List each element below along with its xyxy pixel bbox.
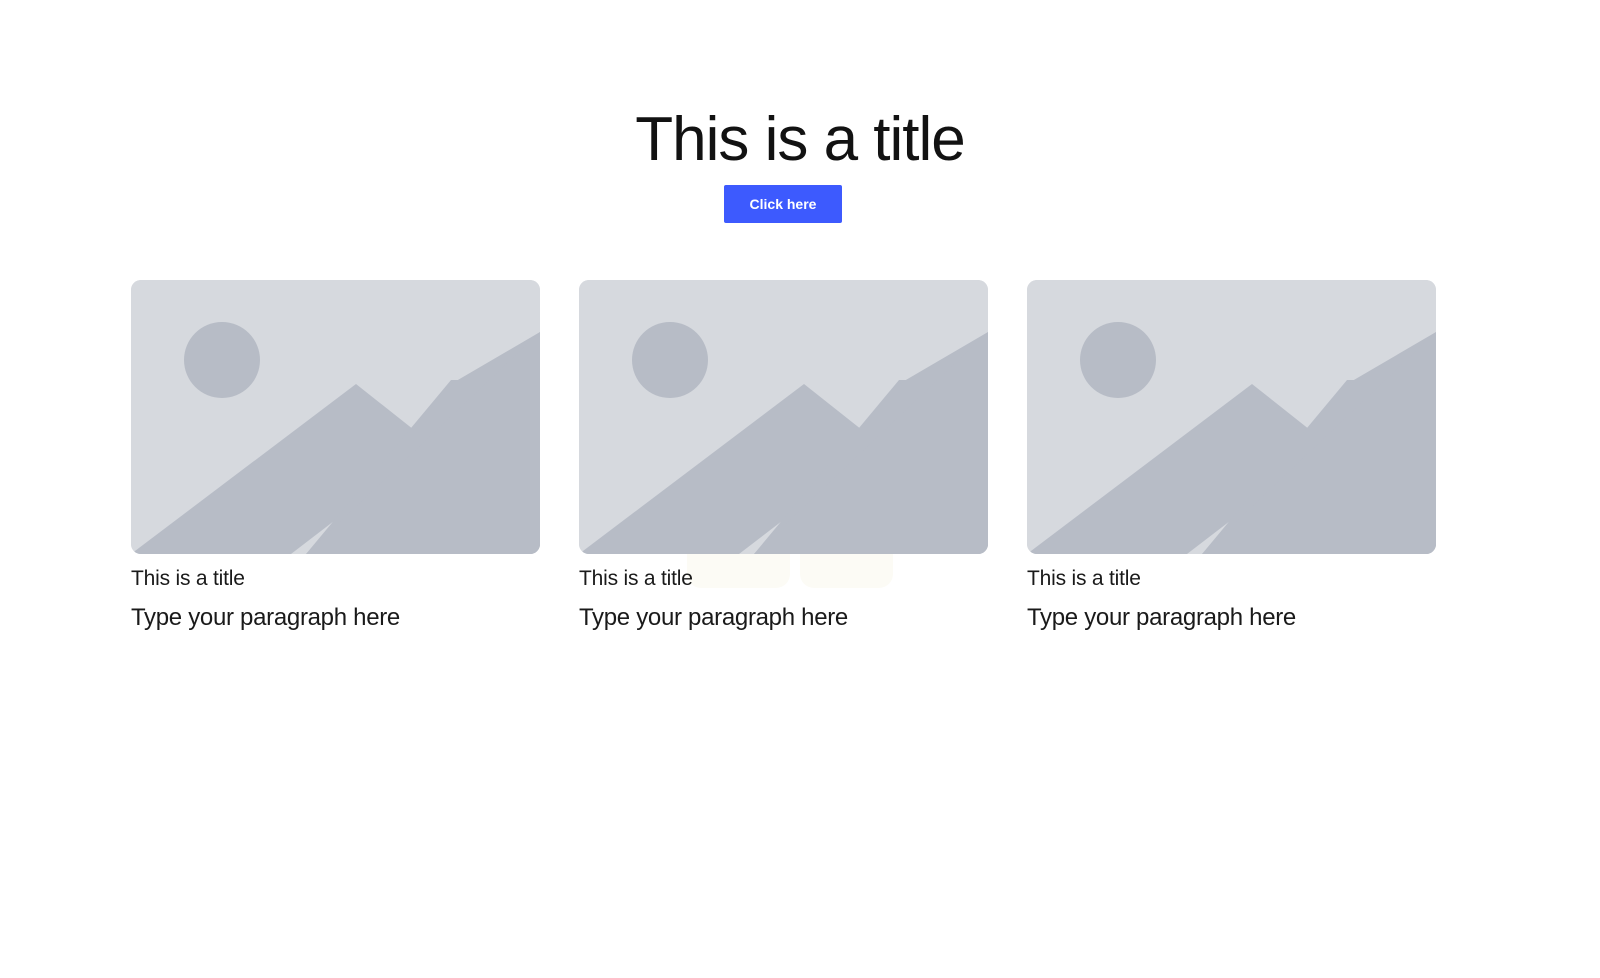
card-title: This is a title <box>1027 566 1436 592</box>
image-placeholder-icon <box>1027 280 1436 554</box>
card-item[interactable]: This is a title Type your paragraph here <box>1027 280 1436 633</box>
card-item[interactable]: This is a title Type your paragraph here <box>579 280 988 633</box>
image-placeholder-icon <box>131 280 540 554</box>
page-root: This is a title Click here This is a tit… <box>0 0 1600 978</box>
click-here-button[interactable]: Click here <box>724 185 842 223</box>
card-image-placeholder[interactable] <box>579 280 988 554</box>
card-image-placeholder[interactable] <box>131 280 540 554</box>
card-item[interactable]: This is a title Type your paragraph here <box>131 280 540 633</box>
card-title: This is a title <box>579 566 988 592</box>
card-paragraph: Type your paragraph here <box>1027 603 1436 633</box>
card-title: This is a title <box>131 566 540 592</box>
card-paragraph: Type your paragraph here <box>579 603 988 633</box>
card-paragraph: Type your paragraph here <box>131 603 540 633</box>
image-placeholder-icon <box>579 280 988 554</box>
page-title: This is a title <box>0 103 1600 177</box>
card-grid: This is a title Type your paragraph here… <box>0 280 1600 640</box>
card-image-placeholder[interactable] <box>1027 280 1436 554</box>
